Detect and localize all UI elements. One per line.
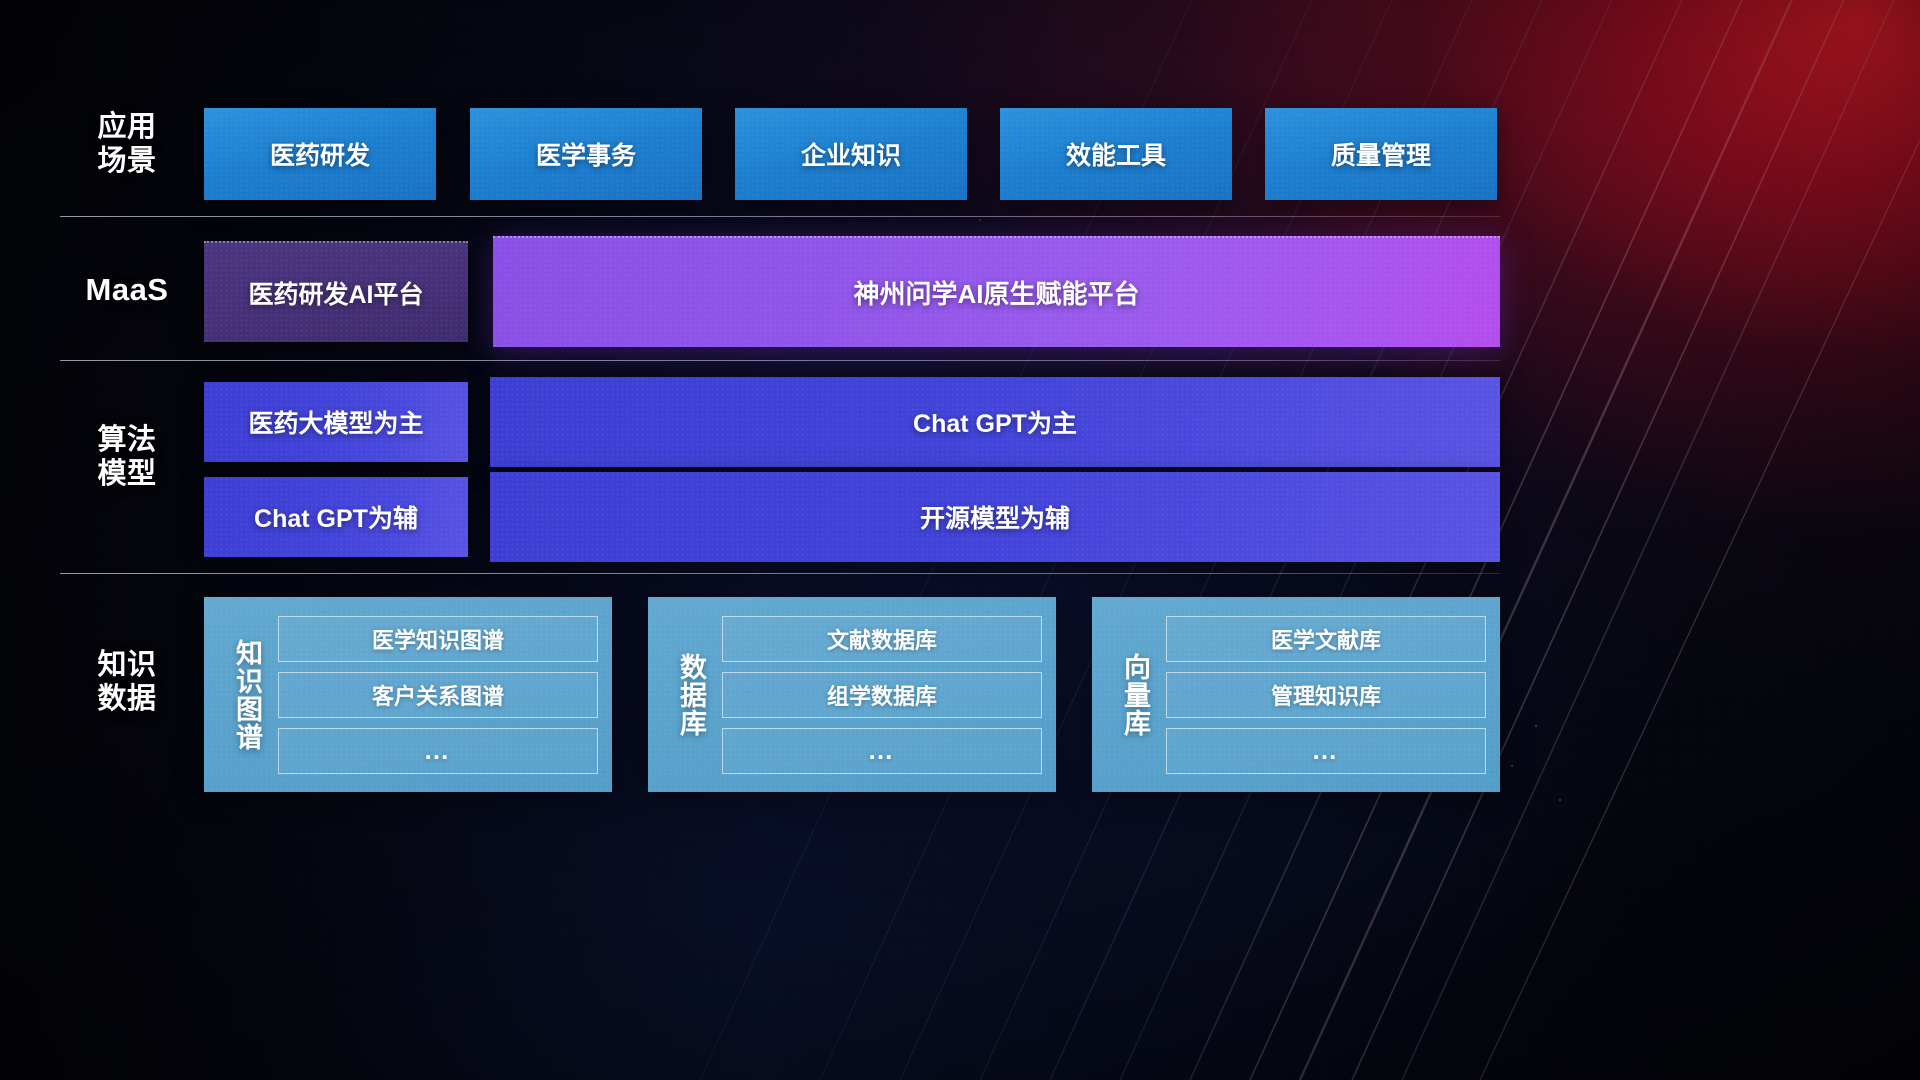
row-label-maas: MaaS [62,272,192,309]
knowledge-item[interactable]: 医学文献库 [1166,616,1486,662]
knowledge-panel-vector-store[interactable]: 向量库 医学文献库 管理知识库 … [1092,597,1500,792]
algo-tile-opensource-secondary-label: 开源模型为辅 [920,499,1070,535]
knowledge-panel-knowledge-graph[interactable]: 知识图谱 医学知识图谱 客户关系图谱 … [204,597,612,792]
maas-tile-pharma-platform-label: 医药研发AI平台 [248,275,423,311]
architecture-diagram: 应用 场景 医药研发 医学事务 企业知识 效能工具 质量管理 MaaS 医药研发… [0,0,1920,1080]
divider-3 [60,573,1500,574]
maas-tile-shenzhou-platform[interactable]: 神州问学AI原生赋能平台 [493,236,1500,347]
algo-tile-chatgpt-secondary-label: Chat GPT为辅 [254,499,418,535]
app-tile-4[interactable]: 效能工具 [1000,108,1232,200]
knowledge-panel-2-title: 数据库 [660,609,722,780]
maas-tile-pharma-platform[interactable]: 医药研发AI平台 [204,241,468,342]
knowledge-item[interactable]: 医学知识图谱 [278,616,598,662]
knowledge-panel-database[interactable]: 数据库 文献数据库 组学数据库 … [648,597,1056,792]
algo-tile-chatgpt-secondary[interactable]: Chat GPT为辅 [204,477,468,557]
row-label-algorithm-model: 算法 模型 [62,423,192,491]
app-tile-4-label: 效能工具 [1066,136,1166,172]
knowledge-item[interactable]: 组学数据库 [722,672,1042,718]
knowledge-item[interactable]: 管理知识库 [1166,672,1486,718]
row-label-knowledge-data: 知识 数据 [62,648,192,716]
app-tile-1-label: 医药研发 [270,136,370,172]
knowledge-panel-2-items: 文献数据库 组学数据库 … [722,609,1042,780]
knowledge-item[interactable]: 文献数据库 [722,616,1042,662]
knowledge-item[interactable]: 客户关系图谱 [278,672,598,718]
row-label-application-scenarios: 应用 场景 [62,110,192,178]
knowledge-item[interactable]: … [1166,728,1486,774]
app-tile-3[interactable]: 企业知识 [735,108,967,200]
knowledge-panel-3-title: 向量库 [1104,609,1166,780]
knowledge-item[interactable]: … [278,728,598,774]
divider-2 [60,360,1500,361]
knowledge-panel-1-items: 医学知识图谱 客户关系图谱 … [278,609,598,780]
divider-1 [60,216,1500,217]
app-tile-3-label: 企业知识 [801,136,901,172]
app-tile-5-label: 质量管理 [1331,136,1431,172]
algo-tile-pharma-llm-primary-label: 医药大模型为主 [248,404,423,440]
algo-tile-chatgpt-primary[interactable]: Chat GPT为主 [490,377,1500,467]
maas-tile-shenzhou-platform-label: 神州问学AI原生赋能平台 [853,274,1139,311]
algo-tile-chatgpt-primary-label: Chat GPT为主 [913,404,1077,440]
knowledge-panel-1-title: 知识图谱 [216,609,278,780]
app-tile-2-label: 医学事务 [536,136,636,172]
algo-tile-pharma-llm-primary[interactable]: 医药大模型为主 [204,382,468,462]
app-tile-1[interactable]: 医药研发 [204,108,436,200]
algo-tile-opensource-secondary[interactable]: 开源模型为辅 [490,472,1500,562]
knowledge-panel-3-items: 医学文献库 管理知识库 … [1166,609,1486,780]
app-tile-5[interactable]: 质量管理 [1265,108,1497,200]
app-tile-2[interactable]: 医学事务 [470,108,702,200]
knowledge-item[interactable]: … [722,728,1042,774]
